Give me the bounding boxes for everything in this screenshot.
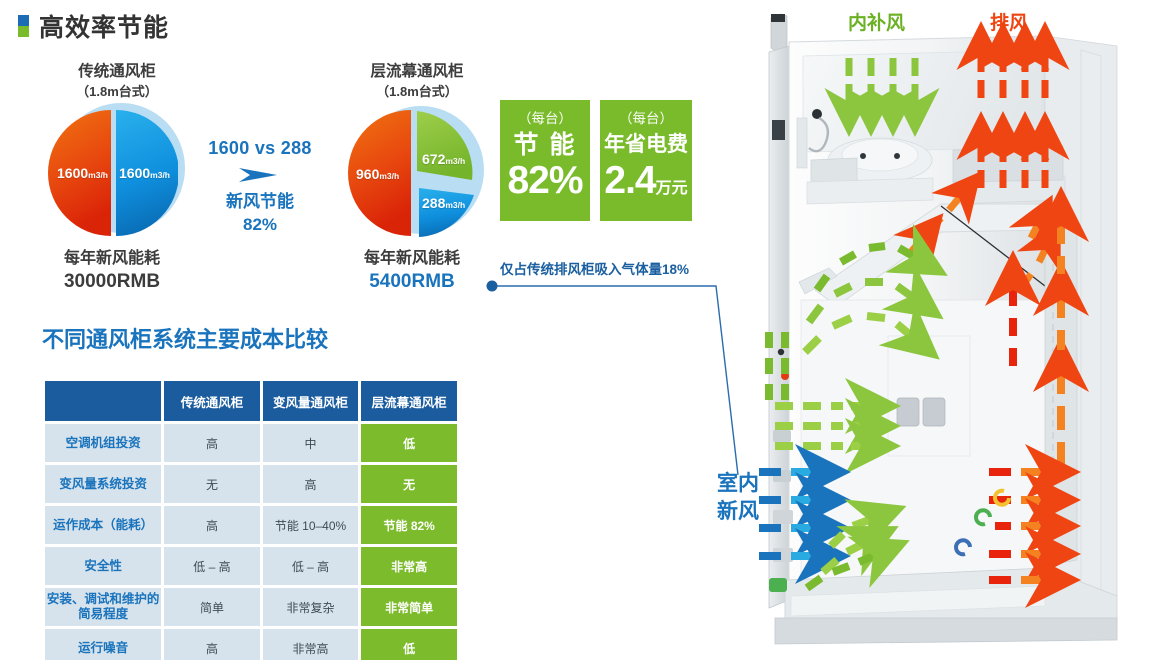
badge-2-value: 2.4万元	[600, 161, 692, 209]
table-cell: 高	[263, 465, 359, 503]
vs-text: 1600 vs 288	[190, 138, 330, 159]
table-cell: 低 – 高	[164, 547, 259, 585]
table-cell-highlight: 无	[361, 465, 457, 503]
right-arrow-icon	[237, 165, 283, 185]
table-header-cell-0	[45, 381, 161, 421]
fume-hood-diagram: 内补风 排风 室内 新风	[745, 0, 1149, 660]
table-row-label: 空调机组投资	[45, 424, 161, 462]
table-row: 空调机组投资 高 中 低	[45, 424, 457, 462]
table-row-label: 安全性	[45, 547, 161, 585]
table-cell: 无	[164, 465, 259, 503]
saving-line-1: 新风节能	[190, 190, 330, 214]
left-pie-heading: 传统通风柜 （1.8m台式）	[32, 62, 202, 101]
table-cell: 简单	[164, 588, 259, 626]
table-cell: 高	[164, 629, 259, 660]
diagram-label-fresh-air: 新风	[717, 498, 759, 525]
table-row: 安全性 低 – 高 低 – 高 非常高	[45, 547, 457, 585]
table-header-cell-3: 层流幕通风柜	[361, 381, 457, 421]
table-row-label: 安装、调试和维护的简易程度	[45, 588, 161, 626]
table-row-label: 运作成本（能耗）	[45, 506, 161, 544]
badge-energy-saving: （每台） 节 能 82%	[500, 100, 590, 221]
right-pie-footer: 每年新风能耗 5400RMB	[322, 248, 502, 294]
left-pie-chart: 1600m3/h 1600m3/h	[48, 108, 178, 238]
right-pie-slice-label-3: 288m3/h	[422, 195, 465, 211]
left-pie-heading-line2: （1.8m台式）	[32, 82, 202, 101]
right-pie-heading-line2: （1.8m台式）	[332, 82, 502, 101]
right-pie-slice-label-2: 672m3/h	[422, 151, 465, 167]
right-pie-chart: 960m3/h 672m3/h 288m3/h	[348, 108, 478, 238]
table-cell: 节能 10–40%	[263, 506, 359, 544]
left-pie-footer-label: 每年新风能耗	[22, 248, 202, 270]
diagram-label-supply-air: 内补风	[848, 8, 905, 35]
infographic-page: 高效率节能 传统通风柜 （1.8m台式） 1600m3/h 1600m3/	[0, 0, 1149, 660]
table-cell: 中	[263, 424, 359, 462]
page-title-text: 高效率节能	[39, 8, 169, 44]
table-header-cell-2: 变风量通风柜	[263, 381, 359, 421]
table-title: 不同通风柜系统主要成本比较	[42, 322, 328, 354]
badge-2-caption: （每台）	[600, 109, 692, 129]
right-pie-heading-line1: 层流幕通风柜	[332, 62, 502, 82]
badge-1-mid: 节 能	[500, 129, 590, 161]
table-header-cell-1: 传统通风柜	[164, 381, 259, 421]
bullet-square-icon	[18, 15, 29, 37]
saving-line-2: 82%	[190, 214, 330, 236]
comparison-middle: 1600 vs 288 新风节能 82%	[190, 138, 330, 236]
table-cell-highlight: 低	[361, 629, 457, 660]
table-cell-highlight: 非常简单	[361, 588, 457, 626]
badge-annual-saving: （每台） 年省电费 2.4万元	[600, 100, 692, 221]
diagram-label-indoor: 室内	[717, 470, 759, 497]
table-row: 运行噪音 高 非常高 低	[45, 629, 457, 660]
table-cell: 高	[164, 506, 259, 544]
left-pie-slice-label-1: 1600m3/h	[57, 165, 108, 181]
fume-hood-illustration	[745, 0, 1149, 660]
table-row-label: 运行噪音	[45, 629, 161, 660]
badge-2-mid: 年省电费	[600, 129, 692, 161]
page-title: 高效率节能	[18, 8, 169, 44]
table-cell: 非常高	[263, 629, 359, 660]
table-cell-highlight: 非常高	[361, 547, 457, 585]
table-cell: 低 – 高	[263, 547, 359, 585]
diagram-label-exhaust-air: 排风	[990, 8, 1028, 35]
table-header-row: 传统通风柜 变风量通风柜 层流幕通风柜	[45, 381, 457, 421]
badge-1-value: 82%	[500, 161, 590, 201]
table-cell-highlight: 低	[361, 424, 457, 462]
table-row-label: 变风量系统投资	[45, 465, 161, 503]
left-pie-slice-label-2: 1600m3/h	[119, 165, 170, 181]
right-pie-footer-label: 每年新风能耗	[322, 248, 502, 270]
table-row: 变风量系统投资 无 高 无	[45, 465, 457, 503]
table-row: 运作成本（能耗） 高 节能 10–40% 节能 82%	[45, 506, 457, 544]
right-pie-slice-label-1: 960m3/h	[356, 166, 399, 182]
table-row: 安装、调试和维护的简易程度 简单 非常复杂 非常简单	[45, 588, 457, 626]
badge-1-caption: （每台）	[500, 109, 590, 129]
left-pie-footer: 每年新风能耗 30000RMB	[22, 248, 202, 294]
left-pie-footer-value: 30000RMB	[22, 270, 202, 294]
callout-leader-line	[486, 275, 746, 485]
right-pie-footer-value: 5400RMB	[322, 270, 502, 294]
cost-comparison-table: 传统通风柜 变风量通风柜 层流幕通风柜 空调机组投资 高 中 低 变风量系统投资…	[42, 378, 460, 660]
table-cell-highlight: 节能 82%	[361, 506, 457, 544]
left-pie-heading-line1: 传统通风柜	[32, 62, 202, 82]
right-pie-heading: 层流幕通风柜 （1.8m台式）	[332, 62, 502, 101]
table-cell: 高	[164, 424, 259, 462]
table-cell: 非常复杂	[263, 588, 359, 626]
